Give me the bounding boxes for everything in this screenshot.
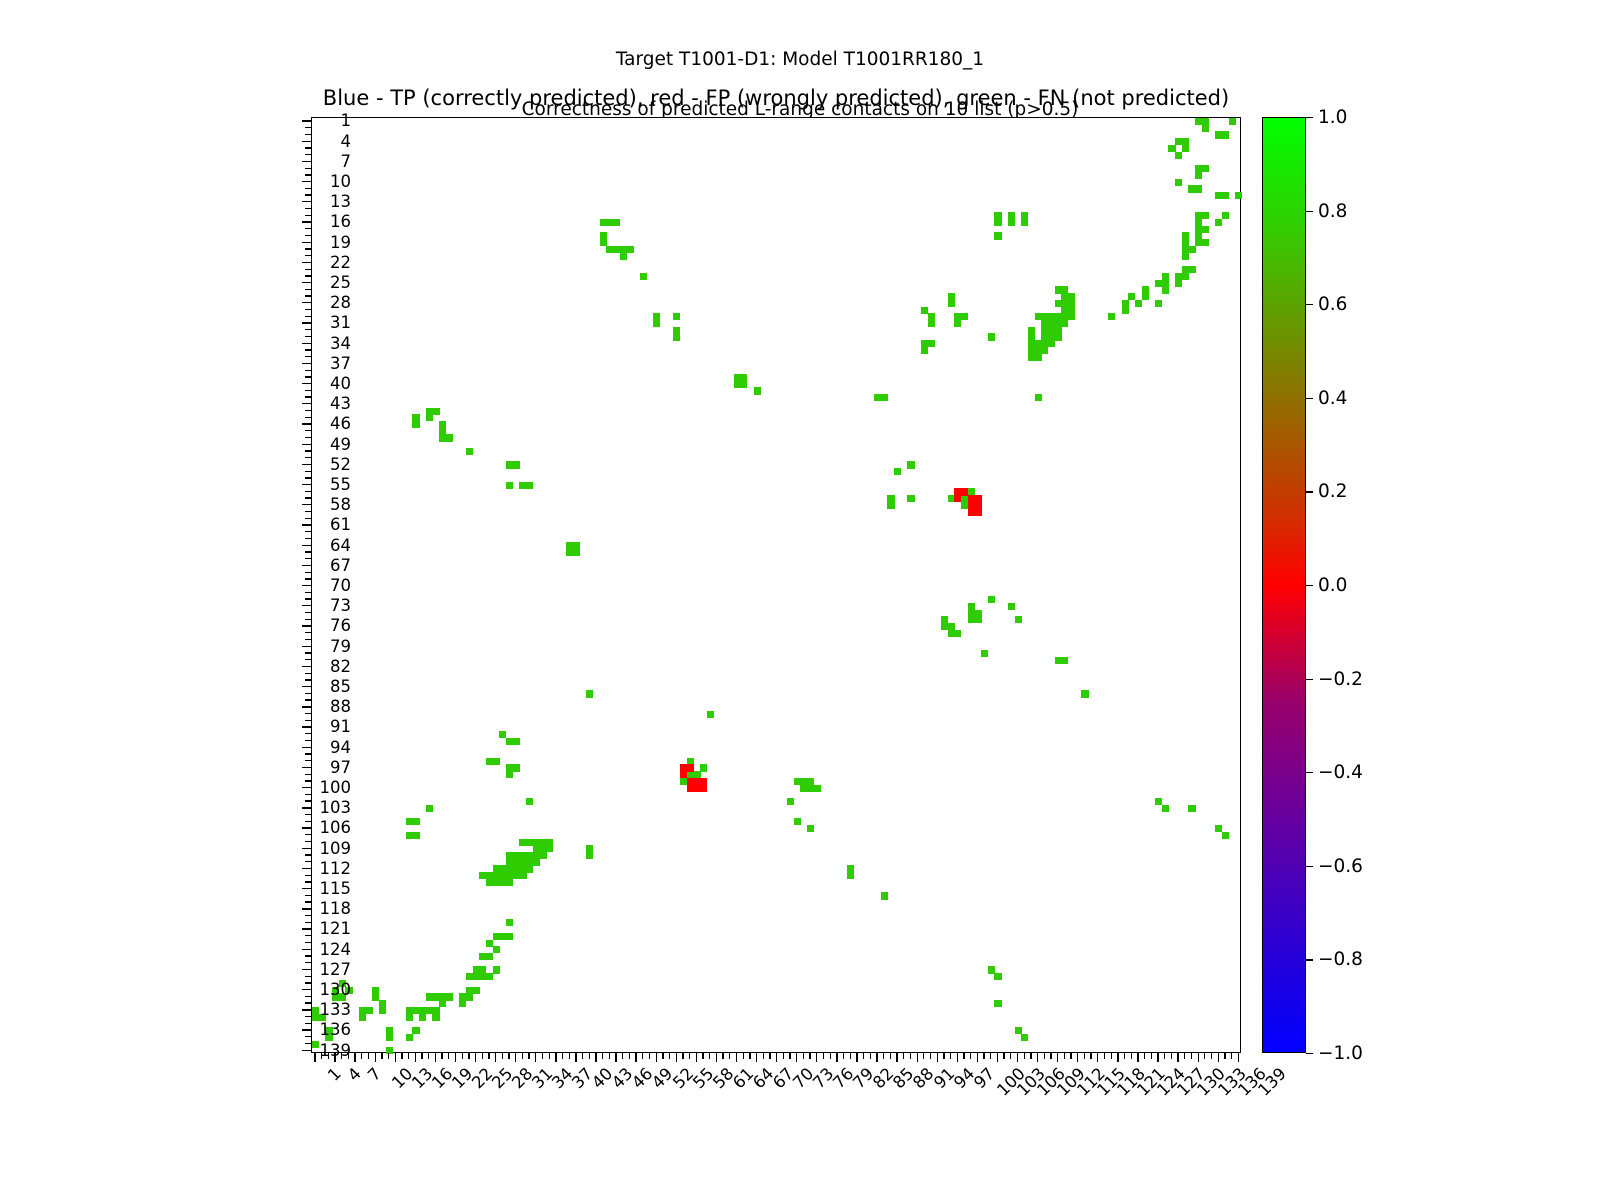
y-tick <box>305 329 311 330</box>
y-tick <box>305 632 311 633</box>
y-tick-label: 85 <box>231 677 351 696</box>
y-tick <box>305 309 311 310</box>
cell-false-negative <box>1008 603 1015 610</box>
cell-false-negative <box>1021 219 1028 226</box>
y-tick-label: 124 <box>231 940 351 959</box>
y-tick-label: 58 <box>231 495 351 514</box>
x-tick <box>1131 1053 1132 1059</box>
cell-false-positive <box>700 785 707 792</box>
y-tick-label: 13 <box>231 192 351 211</box>
x-tick <box>1024 1053 1025 1059</box>
x-tick <box>1111 1053 1112 1059</box>
x-tick <box>415 1053 416 1062</box>
cell-false-negative <box>673 313 680 320</box>
cell-false-negative <box>473 987 480 994</box>
x-tick <box>1191 1053 1192 1059</box>
colorbar-tick-label: −0.4 <box>1318 762 1363 783</box>
cell-false-negative <box>1175 179 1182 186</box>
y-tick-label: 79 <box>231 637 351 656</box>
y-tick <box>305 652 311 653</box>
y-tick <box>305 228 311 229</box>
y-tick <box>305 955 311 956</box>
cell-false-negative <box>626 246 633 253</box>
cell-false-negative <box>446 993 453 1000</box>
cell-false-negative <box>954 630 961 637</box>
cell-false-negative <box>379 1007 386 1014</box>
x-tick <box>575 1053 576 1062</box>
x-tick <box>395 1053 396 1062</box>
x-tick <box>515 1053 516 1062</box>
y-tick <box>305 592 311 593</box>
cell-false-negative <box>359 1014 366 1021</box>
y-tick-label: 49 <box>231 435 351 454</box>
y-tick-label: 7 <box>231 152 351 171</box>
y-tick <box>305 1016 311 1017</box>
cell-false-negative <box>847 872 854 879</box>
y-tick <box>305 188 311 189</box>
colorbar-tick-label: 0.4 <box>1318 388 1347 409</box>
x-tick <box>542 1053 543 1059</box>
x-tick <box>756 1053 757 1062</box>
x-tick <box>863 1053 864 1059</box>
x-tick <box>1010 1053 1011 1059</box>
x-tick <box>1231 1053 1232 1059</box>
x-tick <box>749 1053 750 1059</box>
cell-false-negative <box>1215 219 1222 226</box>
cell-false-positive <box>687 764 694 771</box>
y-tick <box>305 693 311 694</box>
x-tick <box>1070 1053 1071 1059</box>
x-tick <box>736 1053 737 1062</box>
x-tick <box>589 1053 590 1059</box>
cell-false-negative <box>994 219 1001 226</box>
cell-false-negative <box>1108 313 1115 320</box>
x-tick <box>1238 1053 1239 1062</box>
y-tick-label: 28 <box>231 293 351 312</box>
cell-false-negative <box>653 320 660 327</box>
cell-false-negative <box>1202 125 1209 132</box>
x-tick <box>1124 1053 1125 1059</box>
x-tick <box>508 1053 509 1059</box>
x-tick <box>1097 1053 1098 1062</box>
cell-false-negative <box>814 785 821 792</box>
cell-false-positive <box>954 495 961 502</box>
colorbar-tick <box>1306 304 1313 305</box>
x-tick <box>428 1053 429 1059</box>
y-tick <box>305 774 311 775</box>
y-tick <box>305 127 311 128</box>
y-tick-label: 67 <box>231 556 351 575</box>
x-tick <box>361 1053 362 1059</box>
cell-false-negative <box>546 845 553 852</box>
x-tick <box>1164 1053 1165 1059</box>
x-tick <box>729 1053 730 1059</box>
x-tick <box>1090 1053 1091 1059</box>
cell-false-negative <box>881 394 888 401</box>
y-tick-label: 40 <box>231 374 351 393</box>
x-tick <box>381 1053 382 1059</box>
cell-false-negative <box>1035 354 1042 361</box>
x-tick <box>1184 1053 1185 1059</box>
colorbar-tick <box>1306 1053 1313 1054</box>
x-tick <box>1144 1053 1145 1059</box>
cell-false-negative <box>486 973 493 980</box>
x-tick <box>950 1053 951 1059</box>
y-tick <box>305 248 311 249</box>
x-tick <box>462 1053 463 1059</box>
cell-false-negative <box>1222 131 1229 138</box>
y-tick-label: 19 <box>231 233 351 252</box>
cell-false-negative <box>948 300 955 307</box>
x-tick <box>883 1053 884 1059</box>
cell-false-negative <box>1202 226 1209 233</box>
x-tick <box>468 1053 469 1059</box>
colorbar-tick-label: 0.8 <box>1318 201 1347 222</box>
cell-false-positive <box>974 509 981 516</box>
x-tick <box>903 1053 904 1059</box>
colorbar-tick <box>1306 491 1313 492</box>
cell-false-negative <box>1061 320 1068 327</box>
x-tick-label: 4 <box>344 1064 365 1085</box>
x-tick <box>803 1053 804 1059</box>
x-tick <box>535 1053 536 1062</box>
x-tick <box>836 1053 837 1062</box>
x-tick <box>441 1053 442 1059</box>
y-tick <box>305 370 311 371</box>
y-tick-label: 64 <box>231 536 351 555</box>
x-tick <box>937 1053 938 1062</box>
cell-false-negative <box>1175 280 1182 287</box>
cell-false-negative <box>1188 246 1195 253</box>
cell-false-negative <box>613 219 620 226</box>
colorbar-tick-label: 0.2 <box>1318 481 1347 502</box>
x-tick <box>997 1053 998 1062</box>
x-tick <box>1177 1053 1178 1062</box>
y-tick <box>305 410 311 411</box>
x-tick <box>495 1053 496 1062</box>
x-tick <box>783 1053 784 1059</box>
y-tick <box>305 834 311 835</box>
x-tick <box>1064 1053 1065 1059</box>
x-tick <box>830 1053 831 1059</box>
cell-false-negative <box>700 764 707 771</box>
y-tick <box>305 491 311 492</box>
y-tick <box>305 875 311 876</box>
x-tick <box>930 1053 931 1059</box>
x-tick <box>408 1053 409 1059</box>
x-tick <box>983 1053 984 1059</box>
colorbar-tick <box>1306 772 1313 773</box>
cell-false-negative <box>1041 347 1048 354</box>
y-tick-label: 91 <box>231 717 351 736</box>
x-tick <box>635 1053 636 1062</box>
y-tick-label: 43 <box>231 394 351 413</box>
cell-false-negative <box>586 852 593 859</box>
colorbar-tick <box>1306 117 1313 118</box>
y-tick <box>305 673 311 674</box>
x-tick <box>1171 1053 1172 1059</box>
y-tick-label: 115 <box>231 879 351 898</box>
x-tick <box>1044 1053 1045 1059</box>
cell-false-negative <box>432 1014 439 1021</box>
x-tick <box>923 1053 924 1059</box>
cell-false-negative <box>907 495 914 502</box>
y-tick-label: 1 <box>231 111 351 130</box>
x-tick <box>876 1053 877 1062</box>
y-tick-label: 127 <box>231 960 351 979</box>
cell-false-negative <box>994 1000 1001 1007</box>
y-tick <box>305 168 311 169</box>
x-tick <box>642 1053 643 1059</box>
y-tick <box>305 269 311 270</box>
x-tick <box>1037 1053 1038 1062</box>
y-tick <box>305 915 311 916</box>
colorbar-gradient <box>1262 117 1306 1053</box>
cell-false-negative <box>426 414 433 421</box>
cell-false-negative <box>466 993 473 1000</box>
y-tick <box>305 1036 311 1037</box>
x-tick <box>662 1053 663 1059</box>
x-tick <box>609 1053 610 1059</box>
colorbar-tick-label: 0.0 <box>1318 575 1347 596</box>
y-tick-label: 109 <box>231 839 351 858</box>
cell-false-negative <box>928 340 935 347</box>
contact-map-plot[interactable] <box>311 117 1241 1053</box>
y-tick <box>305 612 311 613</box>
cell-false-negative <box>533 859 540 866</box>
cell-false-negative <box>513 764 520 771</box>
cell-false-negative <box>974 616 981 623</box>
x-tick <box>1211 1053 1212 1059</box>
x-tick <box>776 1053 777 1062</box>
x-tick <box>1198 1053 1199 1062</box>
cell-false-negative <box>1182 273 1189 280</box>
cell-false-negative <box>981 650 988 657</box>
colorbar-tick-label: −0.2 <box>1318 669 1363 690</box>
x-tick <box>622 1053 623 1059</box>
cell-false-negative <box>1195 172 1202 179</box>
y-tick-label: 10 <box>231 172 351 191</box>
cell-false-negative <box>506 771 513 778</box>
x-tick <box>595 1053 596 1062</box>
cell-false-negative <box>432 408 439 415</box>
figure-root: Target T1001-D1: Model T1001RR180_1 Corr… <box>0 0 1600 1200</box>
cell-false-negative <box>1222 212 1229 219</box>
x-tick <box>1224 1053 1225 1059</box>
cell-false-negative <box>1229 118 1236 125</box>
y-tick <box>305 450 311 451</box>
x-tick <box>763 1053 764 1059</box>
x-tick <box>870 1053 871 1059</box>
cell-false-negative <box>1035 394 1042 401</box>
contact-map-cells <box>312 118 1240 1052</box>
colorbar-tick <box>1306 585 1313 586</box>
y-tick-label: 55 <box>231 475 351 494</box>
x-tick <box>602 1053 603 1059</box>
y-tick-label: 118 <box>231 899 351 918</box>
cell-false-negative <box>386 1034 393 1041</box>
cell-false-negative <box>1188 266 1195 273</box>
x-tick <box>401 1053 402 1059</box>
y-tick-label: 16 <box>231 212 351 231</box>
cell-false-negative <box>1162 286 1169 293</box>
y-tick <box>305 349 311 350</box>
x-tick <box>957 1053 958 1062</box>
x-tick <box>896 1053 897 1062</box>
cell-false-negative <box>640 273 647 280</box>
y-tick <box>305 753 311 754</box>
x-tick <box>696 1053 697 1062</box>
x-tick <box>917 1053 918 1062</box>
cell-false-negative <box>506 933 513 940</box>
cell-false-negative <box>794 818 801 825</box>
y-tick <box>305 713 311 714</box>
cell-false-negative <box>961 313 968 320</box>
x-tick <box>843 1053 844 1059</box>
x-tick <box>689 1053 690 1059</box>
x-tick <box>709 1053 710 1059</box>
y-tick <box>305 208 311 209</box>
y-tick <box>305 854 311 855</box>
x-tick <box>890 1053 891 1059</box>
x-tick <box>702 1053 703 1059</box>
cell-false-negative <box>506 879 513 886</box>
x-tick <box>850 1053 851 1059</box>
x-tick <box>482 1053 483 1059</box>
cell-false-negative <box>1188 805 1195 812</box>
colorbar-tick-label: 1.0 <box>1318 107 1347 128</box>
y-tick-label: 82 <box>231 657 351 676</box>
cell-false-negative <box>988 333 995 340</box>
cell-false-negative <box>887 502 894 509</box>
y-tick <box>305 551 311 552</box>
y-tick <box>305 572 311 573</box>
y-tick-label: 61 <box>231 515 351 534</box>
cell-false-negative <box>921 347 928 354</box>
x-tick <box>789 1053 790 1059</box>
cell-false-negative <box>1068 313 1075 320</box>
y-tick-label: 139 <box>231 1041 351 1060</box>
x-tick <box>990 1053 991 1059</box>
y-tick-label: 121 <box>231 919 351 938</box>
x-tick <box>555 1053 556 1062</box>
x-tick <box>910 1053 911 1059</box>
x-tick <box>716 1053 717 1062</box>
x-tick <box>1077 1053 1078 1062</box>
y-tick <box>305 471 311 472</box>
cell-false-negative <box>513 461 520 468</box>
x-tick <box>1104 1053 1105 1059</box>
cell-false-negative <box>1182 145 1189 152</box>
x-tick <box>676 1053 677 1062</box>
y-tick <box>305 511 311 512</box>
y-tick <box>305 733 311 734</box>
x-tick <box>943 1053 944 1059</box>
y-tick <box>305 794 311 795</box>
y-tick-label: 112 <box>231 859 351 878</box>
x-tick <box>1151 1053 1152 1059</box>
cell-false-negative <box>526 865 533 872</box>
x-tick <box>682 1053 683 1059</box>
x-tick <box>569 1053 570 1059</box>
cell-false-negative <box>412 421 419 428</box>
cell-false-negative <box>894 468 901 475</box>
y-tick <box>305 430 311 431</box>
x-tick <box>562 1053 563 1059</box>
suptitle-line-1: Target T1001-D1: Model T1001RR180_1 <box>616 49 984 70</box>
cell-false-negative <box>787 798 794 805</box>
cell-false-negative <box>406 1014 413 1021</box>
axes-title: Blue - TP (correctly predicted), red - F… <box>311 86 1241 110</box>
cell-false-negative <box>526 798 533 805</box>
cell-false-negative <box>754 387 761 394</box>
colorbar-tick-label: 0.6 <box>1318 294 1347 315</box>
y-tick-label: 37 <box>231 354 351 373</box>
cell-false-negative <box>406 1034 413 1041</box>
x-tick <box>435 1053 436 1062</box>
y-tick-label: 46 <box>231 414 351 433</box>
cell-false-negative <box>988 596 995 603</box>
cell-false-negative <box>928 320 935 327</box>
y-tick-label: 100 <box>231 778 351 797</box>
x-tick <box>722 1053 723 1059</box>
x-tick <box>354 1053 355 1062</box>
x-tick <box>743 1053 744 1059</box>
cell-false-negative <box>513 738 520 745</box>
x-tick <box>1157 1053 1158 1062</box>
y-tick <box>305 895 311 896</box>
y-tick <box>305 976 311 977</box>
y-tick-label: 22 <box>231 253 351 272</box>
cell-false-negative <box>493 946 500 953</box>
y-tick-label: 70 <box>231 576 351 595</box>
cell-false-negative <box>493 966 500 973</box>
cell-false-negative <box>1015 616 1022 623</box>
x-tick <box>1017 1053 1018 1062</box>
cell-false-negative <box>1021 1034 1028 1041</box>
y-tick-label: 103 <box>231 798 351 817</box>
cell-false-negative <box>1202 165 1209 172</box>
y-tick <box>305 390 311 391</box>
x-tick <box>1030 1053 1031 1059</box>
cell-false-negative <box>1155 300 1162 307</box>
cell-false-negative <box>366 1007 373 1014</box>
cell-false-negative <box>586 690 593 697</box>
y-tick-label: 25 <box>231 273 351 292</box>
x-tick <box>1137 1053 1138 1062</box>
colorbar-tick <box>1306 398 1313 399</box>
cell-false-negative <box>459 1000 466 1007</box>
y-tick-label: 34 <box>231 334 351 353</box>
x-tick <box>629 1053 630 1059</box>
cell-false-negative <box>1182 253 1189 260</box>
cell-false-negative <box>412 818 419 825</box>
x-tick <box>421 1053 422 1059</box>
cell-false-negative <box>1055 333 1062 340</box>
y-tick-label: 130 <box>231 980 351 999</box>
cell-false-negative <box>539 852 546 859</box>
x-tick <box>502 1053 503 1059</box>
x-tick <box>856 1053 857 1062</box>
cell-false-negative <box>1202 212 1209 219</box>
y-tick-label: 31 <box>231 313 351 332</box>
x-tick <box>1117 1053 1118 1062</box>
cell-false-negative <box>573 549 580 556</box>
cell-false-negative <box>412 1027 419 1034</box>
x-tick <box>649 1053 650 1059</box>
cell-false-negative <box>1008 219 1015 226</box>
x-tick <box>388 1053 389 1059</box>
